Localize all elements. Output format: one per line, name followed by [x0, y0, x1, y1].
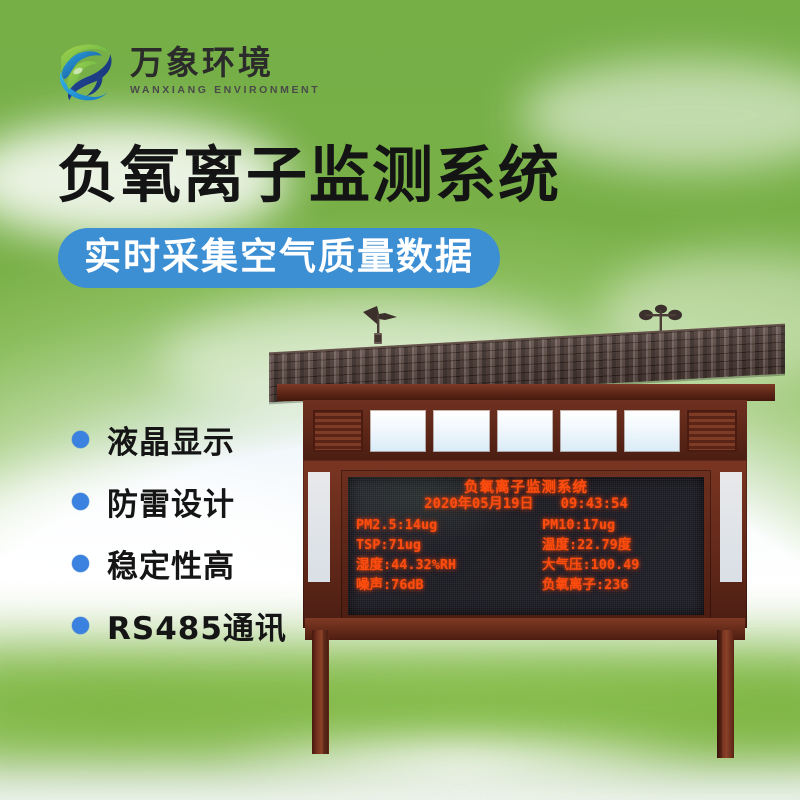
led-date: 2020年05月19日 [424, 496, 533, 512]
led-reading-pressure: 大气压:100.49 [528, 556, 696, 575]
led-display-screen[interactable]: 负氧离子监测系统 2020年05月19日 09:43:54 PM2.5:14ug… [348, 477, 704, 615]
support-leg-left [312, 630, 329, 754]
roof-eave [277, 384, 775, 401]
window-pane [560, 410, 616, 452]
window-pane [497, 410, 553, 452]
louver-vent [313, 410, 363, 452]
window-pane [433, 410, 489, 452]
led-display-frame: 负氧离子监测系统 2020年05月19日 09:43:54 PM2.5:14ug… [341, 470, 711, 622]
led-reading-negative-ions: 负氧离子:236 [528, 576, 696, 595]
led-readings-grid: PM2.5:14ug PM10:17ug TSP:71ug 温度:22.79度 … [356, 516, 696, 596]
window-row [307, 404, 743, 458]
led-reading-humidity: 湿度:44.32%RH [356, 556, 524, 575]
side-gap-right [720, 472, 742, 582]
bullet-dot-icon [72, 431, 89, 448]
bullet-dot-icon [72, 617, 89, 634]
led-title: 负氧离子监测系统 [356, 481, 696, 496]
subtitle-badge: 实时采集空气质量数据 [58, 228, 500, 288]
poster-canvas: 万象环境 WANXIANG ENVIRONMENT 负氧离子监测系统 实时采集空… [0, 0, 800, 800]
brand-logo-text: 万象环境 WANXIANG ENVIRONMENT [130, 46, 320, 96]
brand-name-en: WANXIANG ENVIRONMENT [130, 85, 320, 96]
led-datetime: 2020年05月19日 09:43:54 [356, 496, 696, 514]
led-reading-tsp: TSP:71ug [356, 536, 524, 555]
side-gap-left [308, 472, 330, 582]
feature-label: 防雷设计 [107, 479, 235, 524]
monitoring-station: 负氧离子监测系统 2020年05月19日 09:43:54 PM2.5:14ug… [255, 300, 800, 760]
globe-swirl-logo-icon [50, 36, 120, 106]
feature-label: 液晶显示 [107, 417, 235, 462]
led-reading-pm10: PM10:17ug [528, 516, 696, 535]
led-content: 负氧离子监测系统 2020年05月19日 09:43:54 PM2.5:14ug… [348, 477, 704, 595]
wind-direction-vane-icon [355, 300, 405, 346]
bullet-dot-icon [72, 493, 89, 510]
window-pane [624, 410, 680, 452]
led-time: 09:43:54 [560, 496, 627, 512]
page-title: 负氧离子监测系统 [57, 145, 561, 206]
lower-rail [305, 618, 745, 640]
led-reading-pm25: PM2.5:14ug [356, 516, 524, 535]
led-reading-temperature: 温度:22.79度 [528, 536, 696, 555]
support-leg-right [717, 630, 734, 758]
bullet-dot-icon [72, 555, 89, 572]
led-reading-noise: 噪声:76dB [356, 576, 524, 595]
feature-label: 稳定性高 [107, 541, 235, 586]
brand-logo: 万象环境 WANXIANG ENVIRONMENT [50, 36, 320, 106]
subtitle-text: 实时采集空气质量数据 [84, 235, 474, 278]
louver-vent [687, 410, 737, 452]
window-pane [370, 410, 426, 452]
brand-name-cn: 万象环境 [130, 46, 320, 79]
